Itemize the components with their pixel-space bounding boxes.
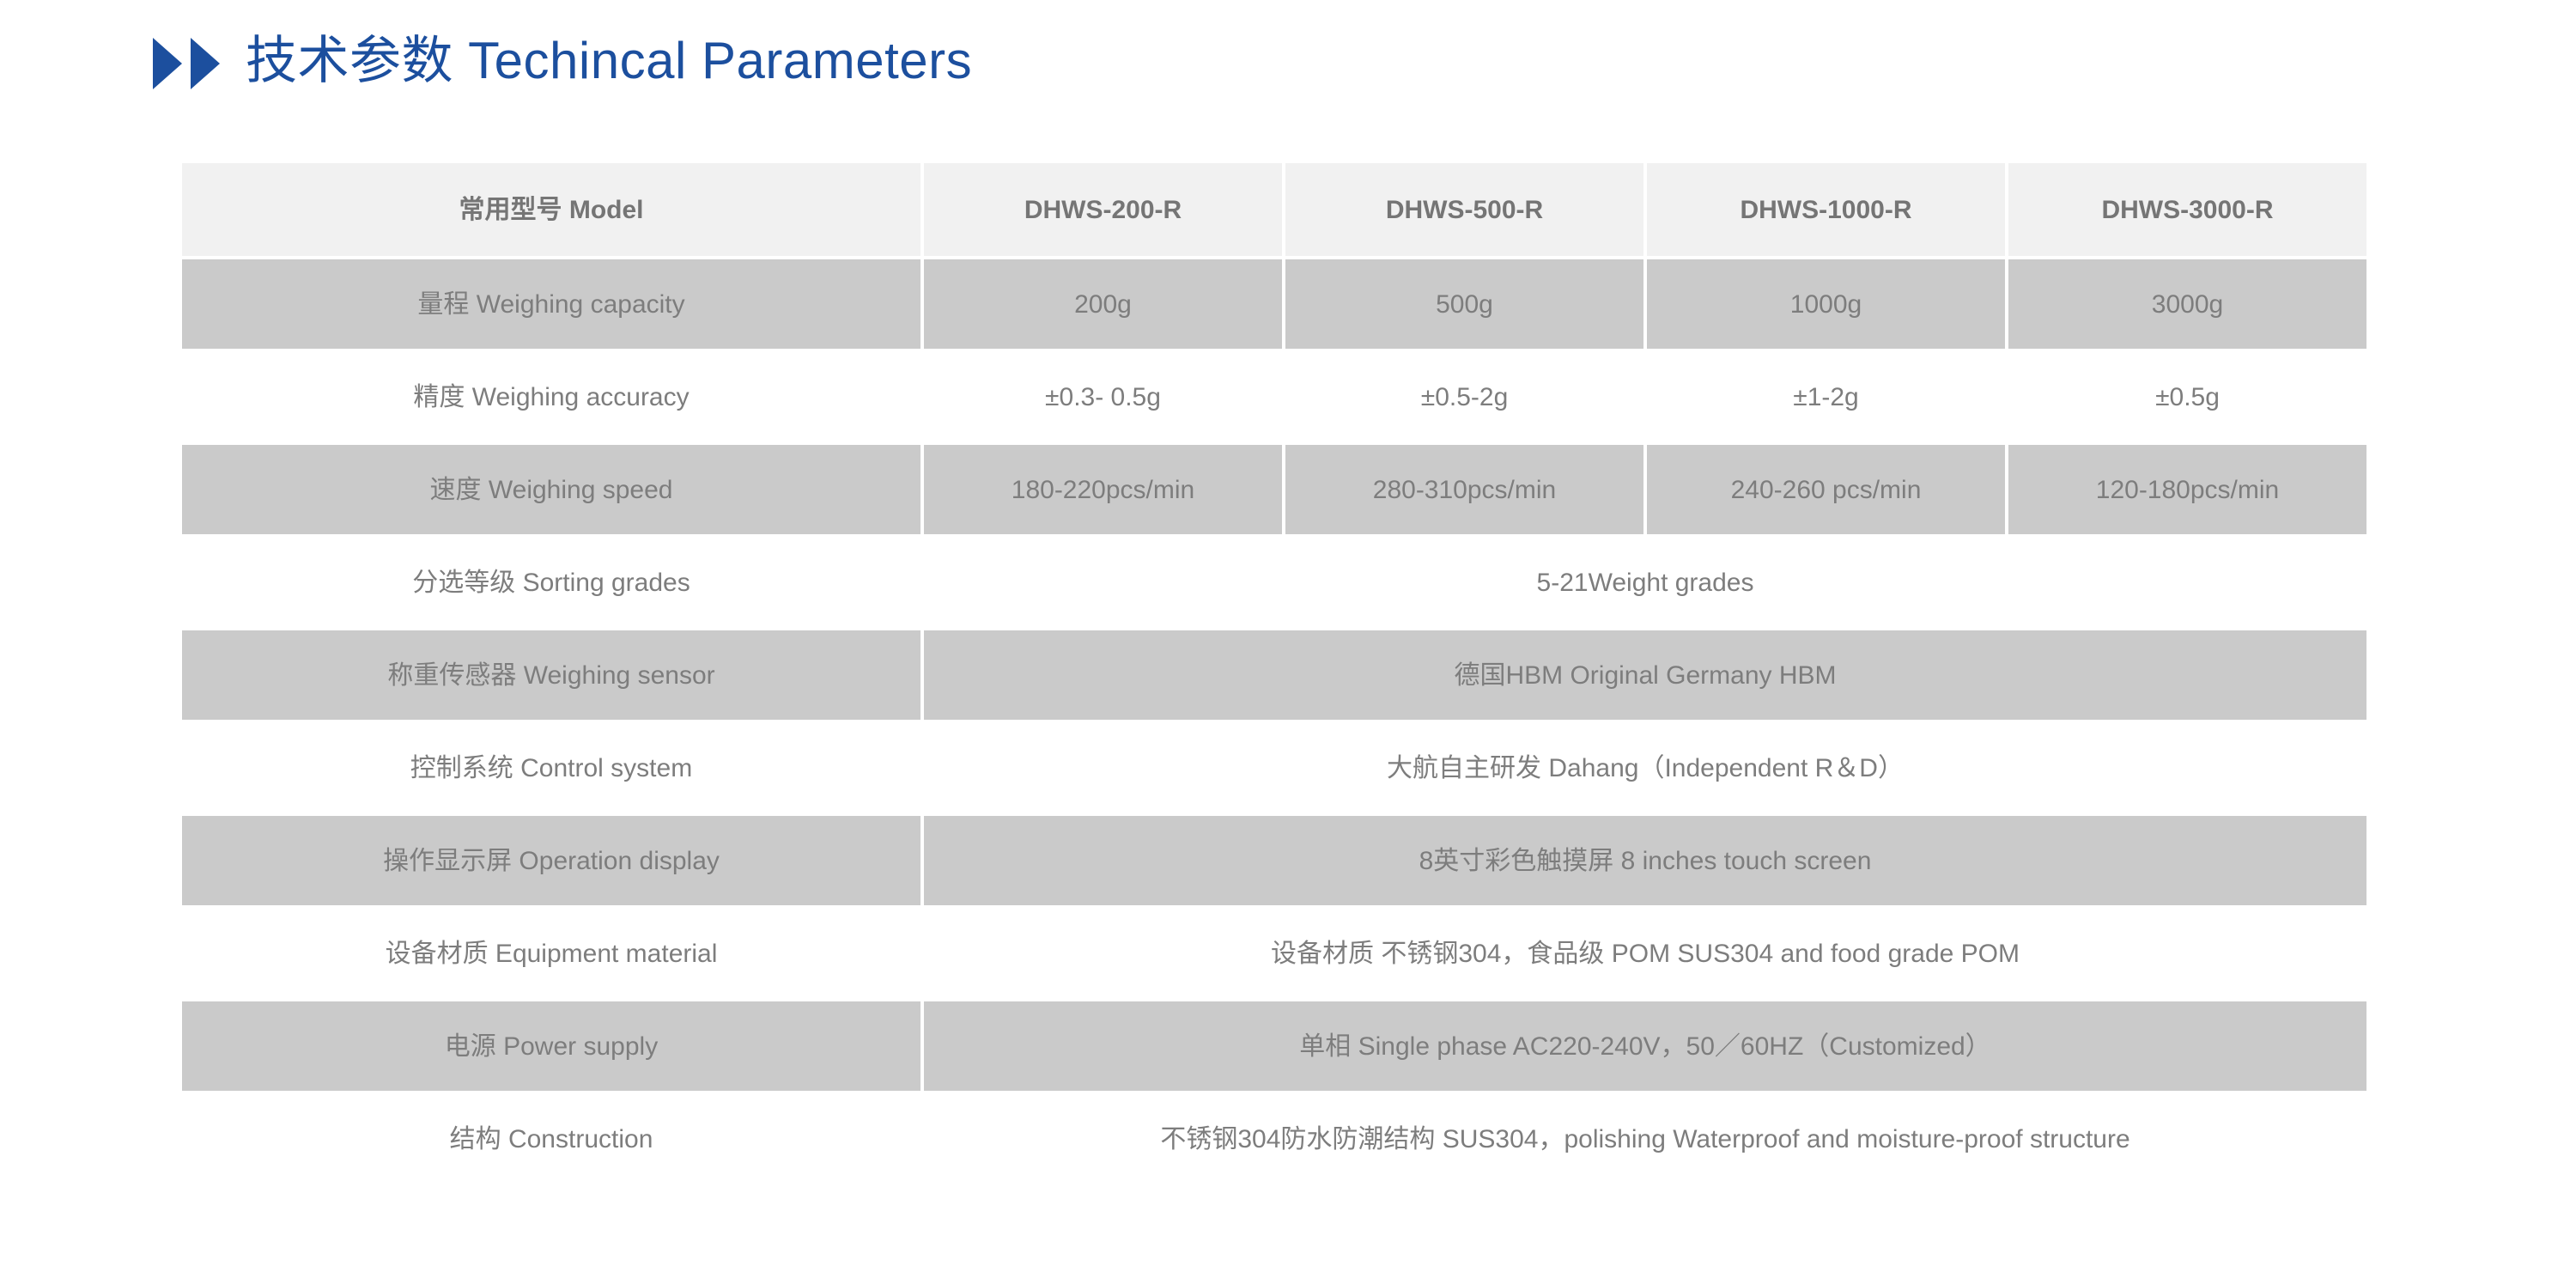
table-row: 结构 Construction不锈钢304防水防潮结构 SUS304，polis… (182, 1094, 2366, 1184)
row-value-merged: 单相 Single phase AC220-240V，50／60HZ（Custo… (924, 1001, 2366, 1091)
row-label: 分选等级 Sorting grades (182, 538, 920, 627)
triangle-right-icon (153, 38, 182, 89)
table-body: 常用型号 ModelDHWS-200-RDHWS-500-RDHWS-1000-… (182, 163, 2366, 1184)
row-value-merged: 设备材质 不锈钢304，食品级 POM SUS304 and food grad… (924, 909, 2366, 998)
table-row: 速度 Weighing speed180-220pcs/min280-310pc… (182, 445, 2366, 534)
row-value: 120-180pcs/min (2008, 445, 2366, 534)
row-label: 称重传感器 Weighing sensor (182, 630, 920, 720)
row-value: 200g (924, 259, 1282, 349)
row-value: 180-220pcs/min (924, 445, 1282, 534)
column-header-model: DHWS-500-R (1285, 163, 1643, 256)
row-value: 240-260 pcs/min (1647, 445, 2005, 534)
row-value: 500g (1285, 259, 1643, 349)
row-value: 280-310pcs/min (1285, 445, 1643, 534)
table-header-row: 常用型号 ModelDHWS-200-RDHWS-500-RDHWS-1000-… (182, 163, 2366, 256)
table-row: 控制系统 Control system大航自主研发 Dahang（Indepen… (182, 723, 2366, 812)
page-title-block: 技术参数 Techincal Parameters (153, 33, 972, 89)
table-row: 设备材质 Equipment material设备材质 不锈钢304，食品级 P… (182, 909, 2366, 998)
row-value: 1000g (1647, 259, 2005, 349)
table-row: 精度 Weighing accuracy±0.3- 0.5g±0.5-2g±1-… (182, 352, 2366, 441)
title-arrow-group (153, 38, 220, 89)
column-header-model-label: 常用型号 Model (182, 163, 920, 256)
row-value-merged: 5-21Weight grades (924, 538, 2366, 627)
table-row: 分选等级 Sorting grades5-21Weight grades (182, 538, 2366, 627)
row-value: ±1-2g (1647, 352, 2005, 441)
row-label: 操作显示屏 Operation display (182, 816, 920, 905)
row-value: 3000g (2008, 259, 2366, 349)
row-value: ±0.5-2g (1285, 352, 1643, 441)
row-value-merged: 8英寸彩色触摸屏 8 inches touch screen (924, 816, 2366, 905)
row-value-merged: 不锈钢304防水防潮结构 SUS304，polishing Waterproof… (924, 1094, 2366, 1184)
row-value-merged: 大航自主研发 Dahang（Independent R＆D） (924, 723, 2366, 812)
row-label: 量程 Weighing capacity (182, 259, 920, 349)
row-value: ±0.5g (2008, 352, 2366, 441)
row-label: 速度 Weighing speed (182, 445, 920, 534)
table-row: 操作显示屏 Operation display8英寸彩色触摸屏 8 inches… (182, 816, 2366, 905)
column-header-model: DHWS-200-R (924, 163, 1282, 256)
table-row: 电源 Power supply单相 Single phase AC220-240… (182, 1001, 2366, 1091)
row-label: 电源 Power supply (182, 1001, 920, 1091)
column-header-model: DHWS-3000-R (2008, 163, 2366, 256)
table-row: 称重传感器 Weighing sensor德国HBM Original Germ… (182, 630, 2366, 720)
row-label: 设备材质 Equipment material (182, 909, 920, 998)
technical-parameters-table: 常用型号 ModelDHWS-200-RDHWS-500-RDHWS-1000-… (179, 160, 2370, 1187)
page-title: 技术参数 Techincal Parameters (246, 35, 972, 87)
column-header-model: DHWS-1000-R (1647, 163, 2005, 256)
row-label: 精度 Weighing accuracy (182, 352, 920, 441)
row-value: ±0.3- 0.5g (924, 352, 1282, 441)
technical-parameters-page: 技术参数 Techincal Parameters 常用型号 ModelDHWS… (0, 0, 2576, 1278)
triangle-right-icon (191, 38, 220, 89)
table-row: 量程 Weighing capacity200g500g1000g3000g (182, 259, 2366, 349)
row-label: 控制系统 Control system (182, 723, 920, 812)
row-value-merged: 德国HBM Original Germany HBM (924, 630, 2366, 720)
row-label: 结构 Construction (182, 1094, 920, 1184)
